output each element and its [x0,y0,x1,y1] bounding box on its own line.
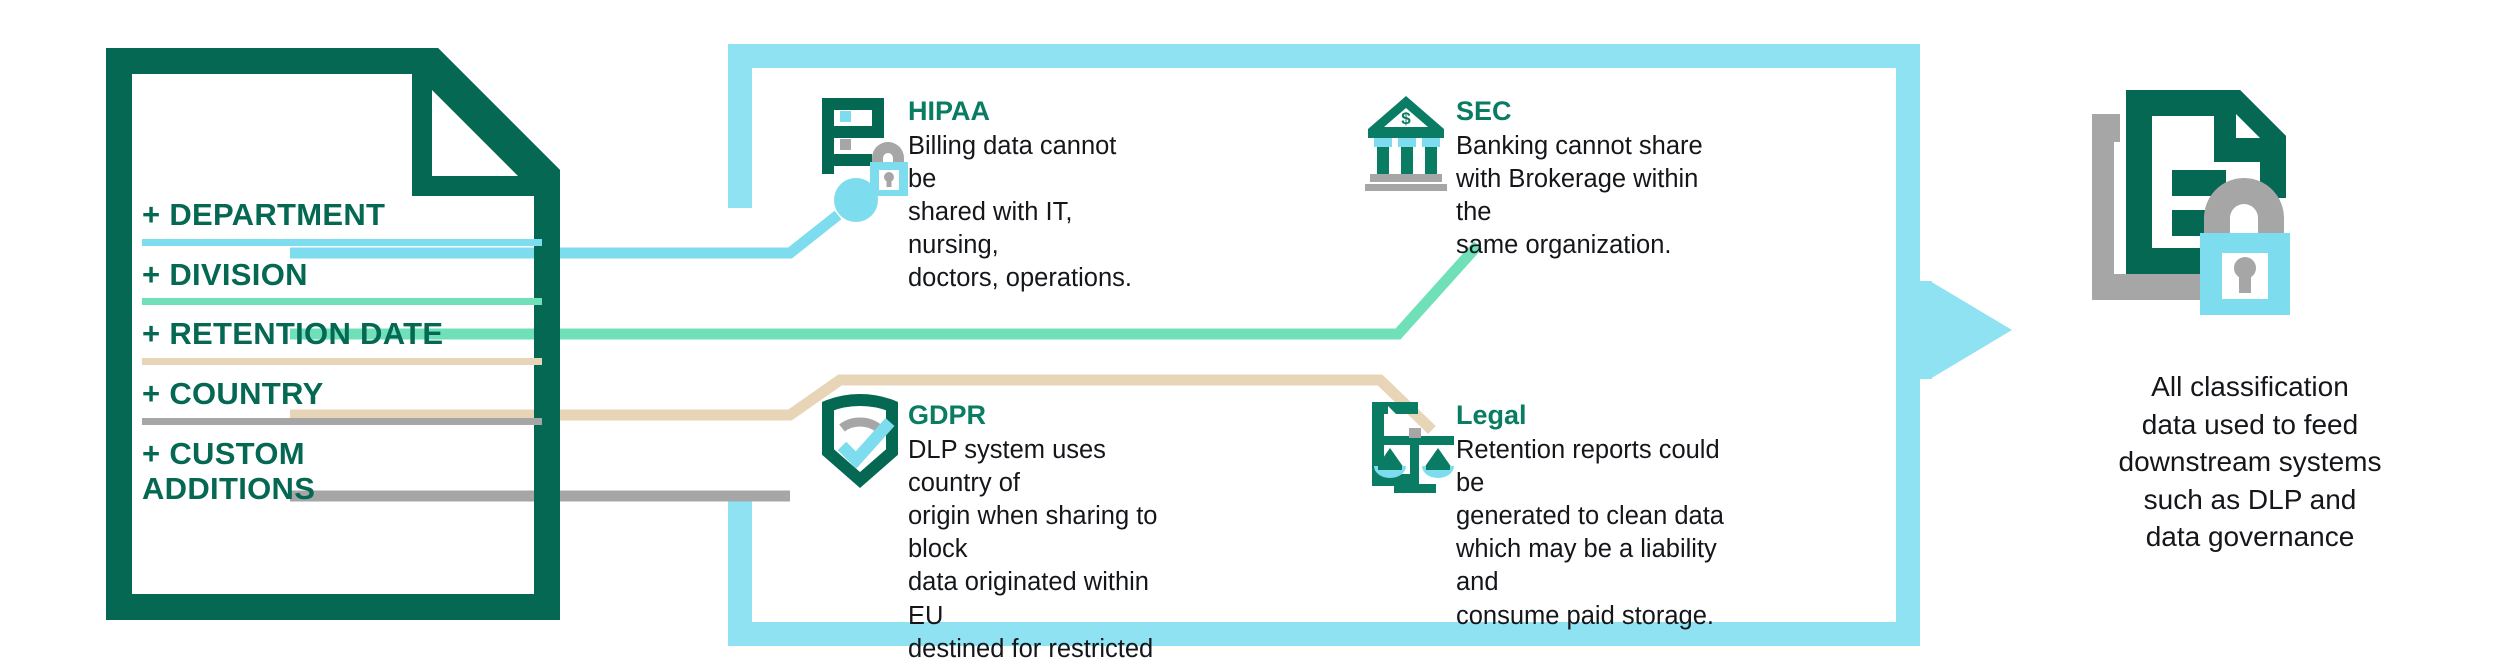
compliance-item-title: HIPAA [908,96,1150,128]
doc-list-item-retention-date[interactable]: + RETENTION DATE [142,317,542,365]
compliance-item-legal[interactable]: Legal Retention reports could be generat… [1368,400,1728,633]
compliance-item-text: GDPR DLP system uses country of origin w… [908,400,1170,665]
compliance-item-title: GDPR [908,400,1170,432]
compliance-item-body: Billing data cannot be shared with IT, n… [908,130,1150,296]
doc-item-label: + COUNTRY [142,377,542,418]
compliance-item-hipaa[interactable]: HIPAA Billing data cannot be shared with… [820,96,1150,296]
compliance-item-text: Legal Retention reports could be generat… [1456,400,1728,633]
doc-item-rule [142,239,542,246]
doc-item-rule [142,358,542,365]
doc-list-item-country[interactable]: + COUNTRY [142,377,542,425]
doc-list-item-department[interactable]: + DEPARTMENT [142,198,542,246]
compliance-item-gdpr[interactable]: GDPR DLP system uses country of origin w… [820,400,1170,665]
doc-list-item-custom-additions[interactable]: + CUSTOM ADDITIONS [142,437,542,512]
compliance-item-body: Banking cannot share with Brokerage with… [1456,130,1718,263]
doc-item-rule [142,418,542,425]
doc-item-label: + DEPARTMENT [142,198,542,239]
doc-list-item-division[interactable]: + DIVISION [142,258,542,306]
diagram-canvas: $ [0,0,2500,665]
compliance-item-sec[interactable]: SEC Banking cannot share with Brokerage … [1368,96,1718,262]
doc-item-label: + CUSTOM ADDITIONS [142,437,542,512]
compliance-item-body: DLP system uses country of origin when s… [908,434,1170,665]
document-lock-icon [2092,90,2290,315]
doc-item-rule [142,298,542,305]
compliance-item-body: Retention reports could be generated to … [1456,434,1728,633]
outcome-caption: All classification data used to feed dow… [2040,368,2460,556]
flow-arrow-head [1930,281,2012,379]
classification-attribute-list: + DEPARTMENT + DIVISION + RETENTION DATE… [142,198,542,512]
bank-icon-slot [1368,96,1440,174]
shield-check-icon-slot [820,400,892,478]
compliance-item-text: SEC Banking cannot share with Brokerage … [1456,96,1718,262]
doc-item-label: + DIVISION [142,258,542,299]
server-lock-icon-slot [820,96,892,174]
compliance-item-title: Legal [1456,400,1728,432]
scales-document-icon-slot [1368,400,1440,478]
doc-item-label: + RETENTION DATE [142,317,542,358]
compliance-item-title: SEC [1456,96,1718,128]
compliance-item-text: HIPAA Billing data cannot be shared with… [908,96,1150,296]
